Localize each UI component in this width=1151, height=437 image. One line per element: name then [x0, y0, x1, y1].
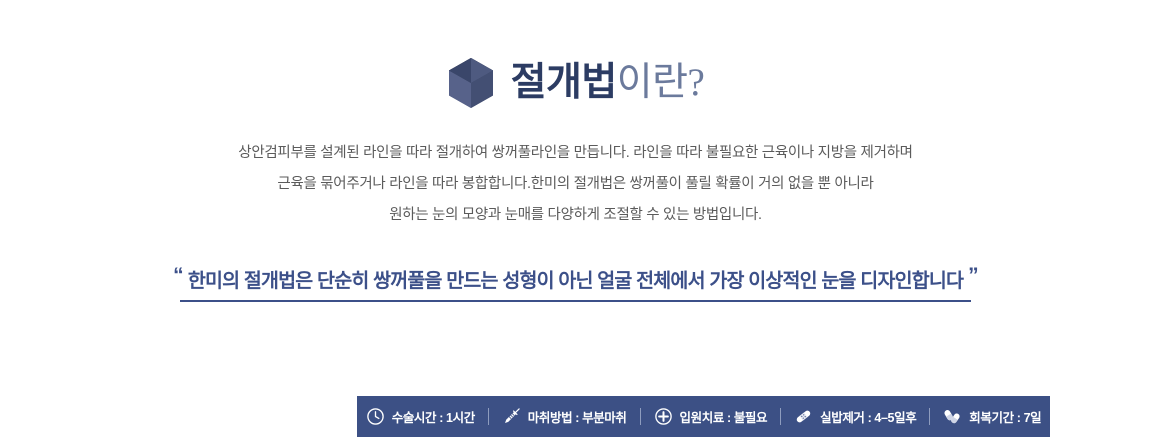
syringe-icon: [502, 407, 521, 426]
page-title: 절개법이란?: [511, 62, 705, 105]
highlight-quote: “한미의 절개법은 단순히 쌍꺼풀을 만드는 성형이 아닌 얼굴 전체에서 가장…: [166, 264, 985, 302]
page-title-strong: 절개법: [511, 61, 617, 104]
highlight-quote-block: “한미의 절개법은 단순히 쌍꺼풀을 만드는 성형이 아닌 얼굴 전체에서 가장…: [0, 264, 1151, 302]
info-item-recovery-period: 회복기간 : 7일: [930, 407, 1054, 426]
info-item-hospitalization: 입원치료 : 불필요: [641, 407, 781, 426]
info-label-anesthesia: 마취방법 : 부분마취: [528, 407, 627, 426]
info-label-recovery-period: 회복기간 : 7일: [969, 407, 1041, 426]
description-line-1: 상안검피부를 설계된 라인을 따라 절개하여 쌍꺼풀라인을 만듭니다. 라인을 …: [0, 138, 1151, 169]
quote-underline: [180, 300, 971, 302]
surgery-info-bar: 수술시간 : 1시간 마취방법 : 부분마취 입원치료 : 불필요: [357, 396, 1050, 437]
medical-cross-icon: [654, 407, 673, 426]
quote-close-mark: ”: [963, 264, 983, 287]
quote-text: 한미의 절개법은 단순히 쌍꺼풀을 만드는 성형이 아닌 얼굴 전체에서 가장 …: [188, 270, 963, 292]
hexagon-cube-icon: [447, 57, 495, 109]
page-title-light: 이란?: [617, 61, 705, 104]
info-label-hospitalization: 입원치료 : 불필요: [680, 407, 768, 426]
quote-open-mark: “: [168, 264, 188, 287]
description-line-3: 원하는 눈의 모양과 눈매를 다양하게 조절할 수 있는 방법입니다.: [0, 200, 1151, 231]
info-label-stitch-removal: 실밥제거 : 4–5일후: [820, 407, 916, 426]
clock-icon: [366, 407, 385, 426]
description-paragraph: 상안검피부를 설계된 라인을 따라 절개하여 쌍꺼풀라인을 만듭니다. 라인을 …: [0, 138, 1151, 231]
info-item-operation-time: 수술시간 : 1시간: [353, 407, 488, 426]
bandage-icon: [794, 407, 813, 426]
info-item-anesthesia: 마취방법 : 부분마취: [489, 407, 640, 426]
info-label-operation-time: 수술시간 : 1시간: [392, 407, 475, 426]
info-item-stitch-removal: 실밥제거 : 4–5일후: [781, 407, 929, 426]
page-title-row: 절개법이란?: [0, 52, 1151, 114]
pills-icon: [943, 407, 962, 426]
description-line-2: 근육을 묶어주거나 라인을 따라 봉합합니다.한미의 절개법은 쌍꺼풀이 풀릴 …: [0, 169, 1151, 200]
